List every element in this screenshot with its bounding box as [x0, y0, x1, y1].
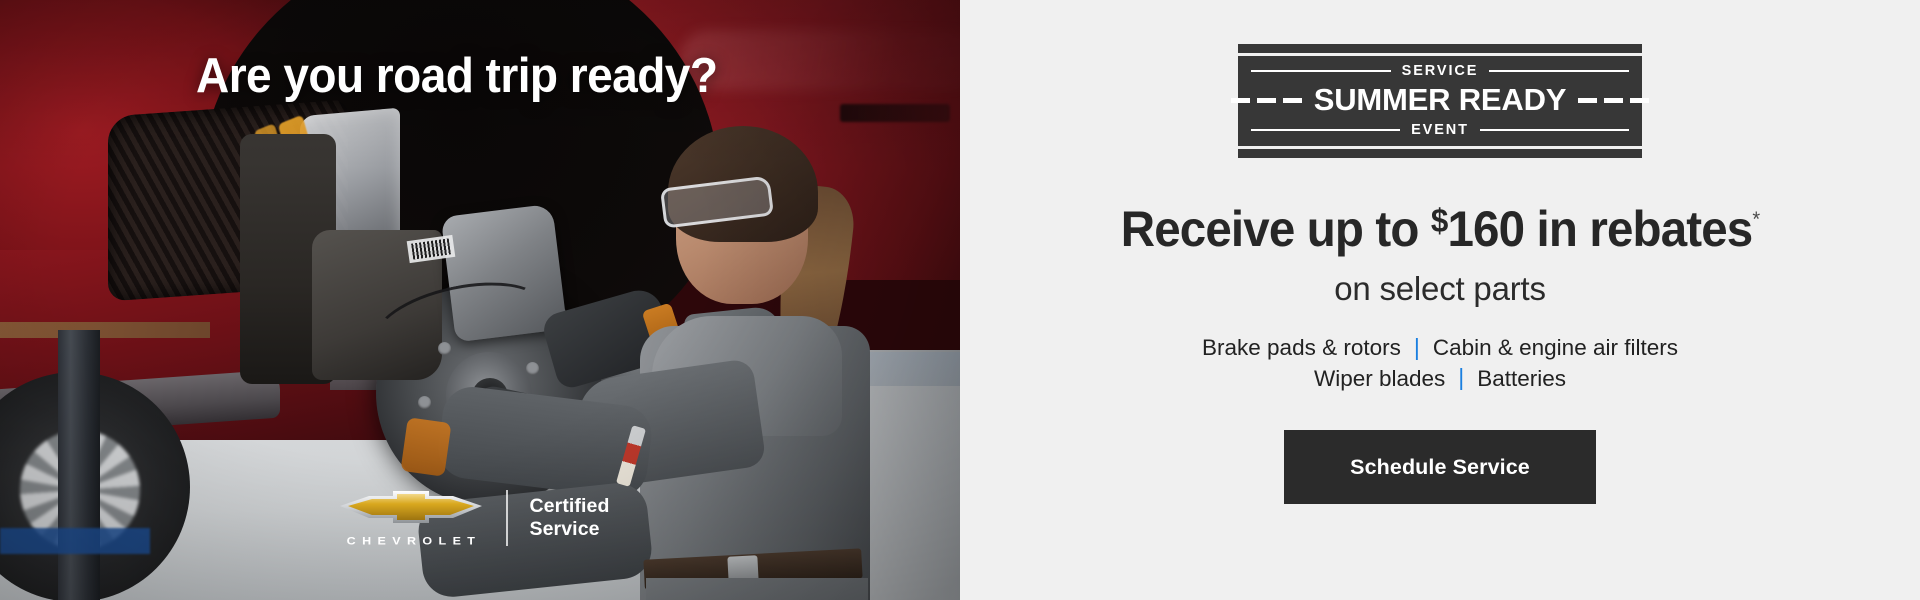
badge-core: SERVICE SUMMER READY: [1238, 56, 1642, 146]
schedule-service-button[interactable]: Schedule Service: [1284, 430, 1596, 504]
service-promo-banner: Are you road trip ready?: [0, 0, 1920, 600]
parts-line: Wiper blades | Batteries: [1202, 364, 1678, 395]
badge-footer-row: EVENT: [1238, 122, 1642, 138]
currency-symbol: $: [1431, 202, 1448, 239]
hero-photo-panel: Are you road trip ready?: [0, 0, 960, 600]
part-item: Wiper blades: [1314, 364, 1445, 395]
badge-eyebrow-row: SERVICE: [1238, 63, 1642, 79]
technician-trousers: [646, 578, 868, 600]
vehicle-lift-pad: [0, 528, 150, 554]
offer-subheadline: on select parts: [1334, 270, 1546, 308]
road-dash: [1604, 98, 1623, 103]
road-dashes-left: [1231, 98, 1302, 103]
parts-separator: |: [1458, 366, 1464, 389]
road-dash: [1257, 98, 1276, 103]
certified-line: Certified: [530, 495, 610, 518]
photo-headline: Are you road trip ready?: [196, 48, 717, 104]
badge-rule-right-bottom: [1480, 129, 1629, 131]
badge-rule-right: [1489, 70, 1629, 72]
badge-title-row: SUMMER READY: [1238, 79, 1642, 122]
road-dashes-right: [1578, 98, 1649, 103]
technician: [600, 120, 930, 600]
parts-line: Brake pads & rotors | Cabin & engine air…: [1202, 333, 1678, 364]
parts-separator: |: [1414, 336, 1420, 359]
headline-lead: Receive up to: [1121, 201, 1431, 257]
technician-sleeve-cuff: [400, 417, 451, 477]
eligible-parts-list: Brake pads & rotors | Cabin & engine air…: [1202, 333, 1678, 394]
badge-eyebrow-label: SERVICE: [1402, 63, 1479, 79]
badge-rule-left: [1251, 70, 1391, 72]
badge-title-label: SUMMER READY: [1314, 82, 1567, 118]
road-dash: [1283, 98, 1302, 103]
lockup-divider: [506, 490, 508, 546]
badge-footer-label: EVENT: [1411, 122, 1469, 138]
summer-ready-event-badge: SERVICE SUMMER READY: [1238, 44, 1642, 158]
certified-service-text: Certified Service: [530, 495, 610, 541]
badge-bottom-rail: [1238, 149, 1642, 158]
rebate-amount: 160: [1447, 201, 1524, 257]
vehicle-lift-post: [58, 330, 100, 600]
part-item: Batteries: [1477, 364, 1566, 395]
vehicle-lift-arm: [0, 322, 210, 338]
part-item: Brake pads & rotors: [1202, 333, 1401, 364]
road-dash: [1578, 98, 1597, 103]
part-item: Cabin & engine air filters: [1433, 333, 1678, 364]
vehicle-body-highlight: [680, 30, 960, 90]
offer-headline: Receive up to $160 in rebates*: [1121, 200, 1759, 258]
service-line: Service: [530, 518, 610, 541]
certified-service-lockup: CHEVROLET Certified Service: [338, 487, 610, 548]
lug-stud: [418, 396, 431, 409]
road-dash: [1231, 98, 1250, 103]
offer-content-panel: SERVICE SUMMER READY: [960, 0, 1920, 600]
chevrolet-wordmark: CHEVROLET: [341, 535, 482, 547]
headline-trail: in rebates: [1524, 201, 1752, 257]
chevrolet-brand-block: CHEVROLET: [338, 487, 484, 548]
footnote-marker: *: [1752, 208, 1759, 231]
badge-rule-left-bottom: [1251, 129, 1400, 131]
lug-stud: [526, 362, 539, 375]
road-dash: [1630, 98, 1649, 103]
badge-top-rail: [1238, 44, 1642, 53]
chevrolet-bowtie-icon: [338, 487, 484, 527]
